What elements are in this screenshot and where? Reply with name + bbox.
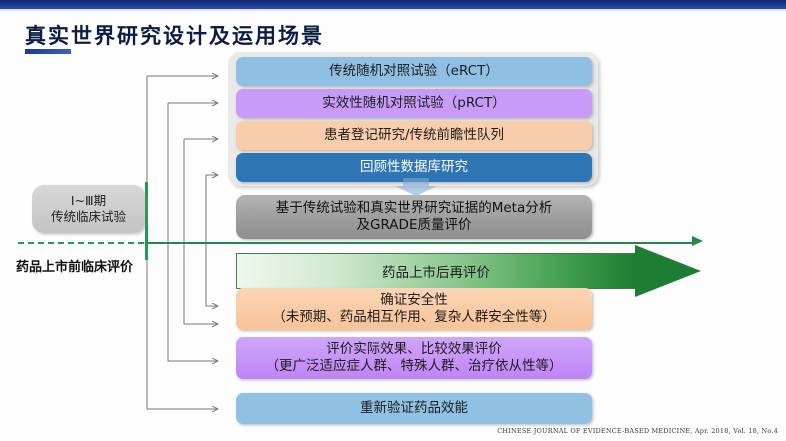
box-meta-analysis[interactable]: 基于传统试验和真实世界研究证据的Meta分析 及GRADE质量评价 [236, 195, 592, 239]
box-confirm-safety[interactable]: 确证安全性 （未预期、药品相互作用、复杂人群安全性等） [236, 288, 592, 330]
post-market-arrow[interactable]: 药品上市后再评价 [236, 253, 701, 289]
journal-footer: CHINESE JOURNAL OF EVIDENCE-BASED MEDICI… [497, 427, 778, 435]
timeline-arrow-line [145, 242, 695, 244]
post-market-arrow-label: 药品上市后再评价 [236, 253, 636, 289]
box-revalidate-efficacy[interactable]: 重新验证药品效能 [236, 393, 592, 424]
box-effectiveness-evaluation[interactable]: 评价实际效果、比较效果评价 （更广泛适应症人群、特殊人群、治疗依从性等） [236, 337, 592, 379]
box-erct[interactable]: 传统随机对照试验（eRCT） [236, 57, 592, 86]
phase-line-2: 传统临床试验 [51, 209, 126, 225]
page-title: 真实世界研究设计及运用场景 [25, 20, 324, 50]
top-band-highlight [0, 9, 786, 12]
phase-box-preclinical[interactable]: Ⅰ~Ⅲ期 传统临床试验 [32, 185, 145, 233]
post-market-arrow-head [635, 245, 701, 297]
slide-canvas: 真实世界研究设计及运用场景 传统随机对照试验（eRCT） 实效性随机对照试验（p… [0, 0, 786, 441]
box-patient-registry[interactable]: 患者登记研究/传统前瞻性队列 [236, 121, 592, 150]
box-prct[interactable]: 实效性随机对照试验（pRCT） [236, 89, 592, 118]
phase-line-1: Ⅰ~Ⅲ期 [71, 193, 106, 209]
top-navy-band [0, 0, 786, 9]
down-arrow-icon [395, 178, 437, 196]
title-underline [25, 49, 71, 54]
pre-market-dashed-line [18, 242, 144, 244]
pre-market-label: 药品上市前临床评价 [16, 256, 133, 275]
phase-divider-line [145, 182, 148, 260]
